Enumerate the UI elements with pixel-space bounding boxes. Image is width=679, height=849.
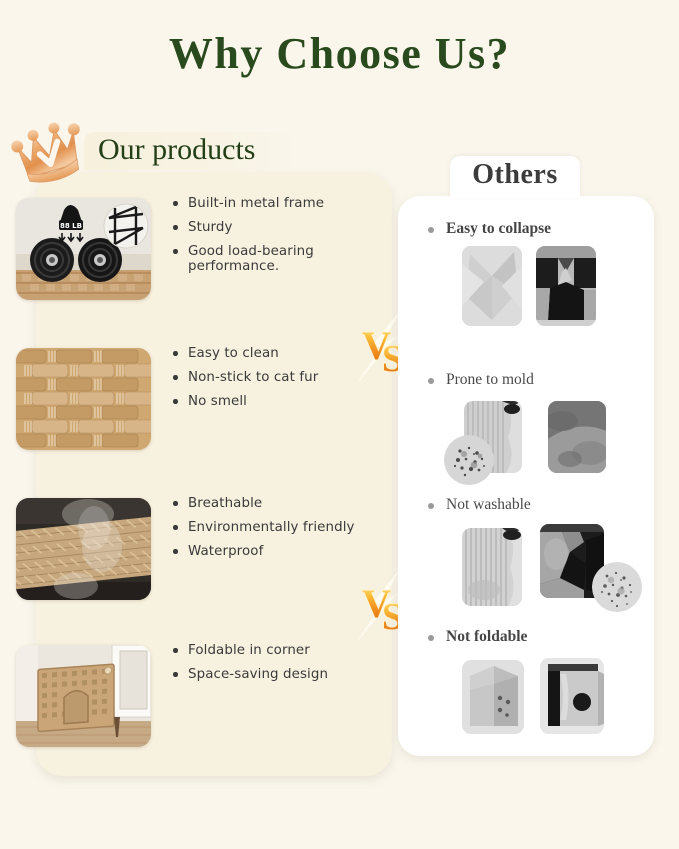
our-product-bullets: Breathable Environmentally friendly Wate… bbox=[170, 496, 356, 568]
rigid-box-photo bbox=[462, 660, 524, 734]
folded-litter-box-photo bbox=[16, 645, 151, 747]
breathable-weave-smoke-photo bbox=[16, 498, 151, 600]
page-title: Why Choose Us? bbox=[0, 28, 679, 79]
others-row-label: Not foldable bbox=[428, 628, 527, 646]
our-product-bullets: Foldable in corner Space-saving design bbox=[170, 643, 356, 691]
others-header: Others bbox=[450, 156, 580, 198]
our-product-bullets: Built-in metal frame Sturdy Good load-be… bbox=[170, 196, 356, 283]
others-row-images bbox=[444, 246, 644, 330]
others-header-label: Others bbox=[450, 159, 580, 191]
crown-check-icon bbox=[6, 118, 92, 184]
bullet-item: Sturdy bbox=[170, 220, 356, 235]
mold-spots-closeup-photo bbox=[444, 435, 494, 485]
bullet-item: Built-in metal frame bbox=[170, 196, 356, 211]
bullet-item: Environmentally friendly bbox=[170, 520, 356, 535]
bullet-item: Foldable in corner bbox=[170, 643, 356, 658]
bullet-item: Breathable bbox=[170, 496, 356, 511]
collapsed-dark-box-photo bbox=[536, 246, 596, 326]
bullet-item: Space-saving design bbox=[170, 667, 356, 682]
collapsed-fabric-box-photo bbox=[462, 246, 522, 326]
moldy-dark-surface-photo bbox=[548, 401, 606, 473]
rigid-open-box-photo bbox=[540, 658, 604, 734]
others-row-label: Easy to collapse bbox=[428, 220, 551, 238]
our-product-bullets: Easy to clean Non-stick to cat fur No sm… bbox=[170, 346, 356, 418]
rattan-weave-closeup-photo bbox=[16, 348, 151, 450]
bullet-item: Non-stick to cat fur bbox=[170, 370, 356, 385]
svg-text:88 LB: 88 LB bbox=[60, 222, 82, 230]
others-row-label: Not washable bbox=[428, 496, 531, 514]
dirt-closeup-photo bbox=[592, 562, 642, 612]
bullet-item: Waterproof bbox=[170, 544, 356, 559]
others-row-label: Prone to mold bbox=[428, 371, 534, 389]
bullet-item: No smell bbox=[170, 394, 356, 409]
stained-fabric-box-photo bbox=[462, 528, 522, 606]
others-row-images bbox=[444, 397, 644, 481]
others-row-images bbox=[444, 522, 644, 606]
metal-frame-dumbbells-photo: 88 LB bbox=[16, 198, 151, 300]
bullet-item: Good load-bearing performance. bbox=[170, 244, 356, 274]
bullet-item: Easy to clean bbox=[170, 346, 356, 361]
our-products-header-label: Our products bbox=[98, 133, 255, 167]
others-row-images bbox=[444, 654, 644, 738]
our-products-header: Our products bbox=[84, 132, 310, 170]
